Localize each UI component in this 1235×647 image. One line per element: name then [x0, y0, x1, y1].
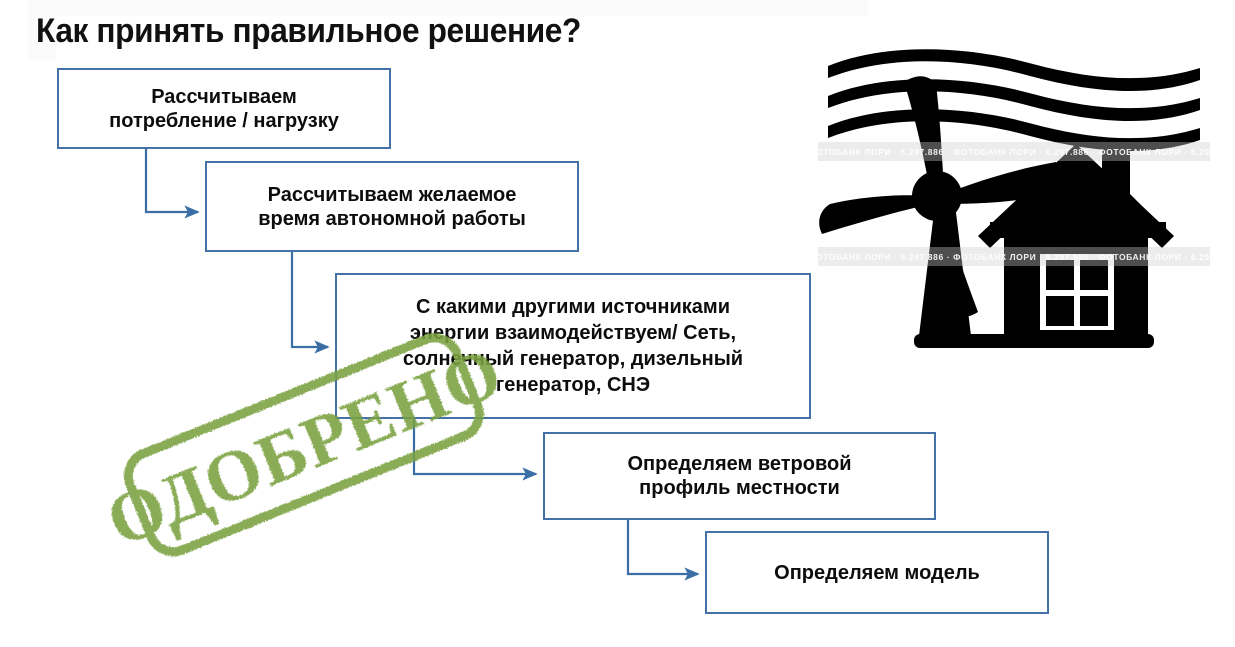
connector-step4-step5	[628, 520, 698, 574]
page-title: Как принять правильное решение?	[36, 12, 581, 51]
flow-step-4-label: Определяем ветровой профиль местности	[619, 452, 859, 500]
flow-step-1[interactable]: Рассчитываем потребление / нагрузку	[57, 68, 391, 149]
wind-turbine-house-illustration	[818, 44, 1210, 374]
flow-step-2[interactable]: Рассчитываем желаемое время автономной р…	[205, 161, 579, 252]
flow-step-3[interactable]: С какими другими источниками энергии вза…	[335, 273, 811, 419]
flow-step-1-label: Рассчитываем потребление / нагрузку	[101, 85, 347, 133]
connector-step2-step3	[292, 252, 328, 347]
connector-step1-step2	[146, 149, 198, 212]
wind-turbine-artwork: ФОТОБАНК ЛОРИ · 6.297.886 · ФОТОБАНК ЛОР…	[818, 44, 1210, 374]
connector-step3-step4	[414, 419, 536, 474]
flow-step-3-label: С какими другими источниками энергии вза…	[395, 294, 751, 398]
flow-step-5[interactable]: Определяем модель	[705, 531, 1049, 614]
wind-lines-icon	[828, 49, 1200, 151]
slide-canvas: Как принять правильное решение? Рассчиты…	[0, 0, 1235, 647]
flow-step-5-label: Определяем модель	[766, 561, 988, 585]
flow-step-2-label: Рассчитываем желаемое время автономной р…	[250, 183, 534, 231]
flow-step-4[interactable]: Определяем ветровой профиль местности	[543, 432, 936, 520]
